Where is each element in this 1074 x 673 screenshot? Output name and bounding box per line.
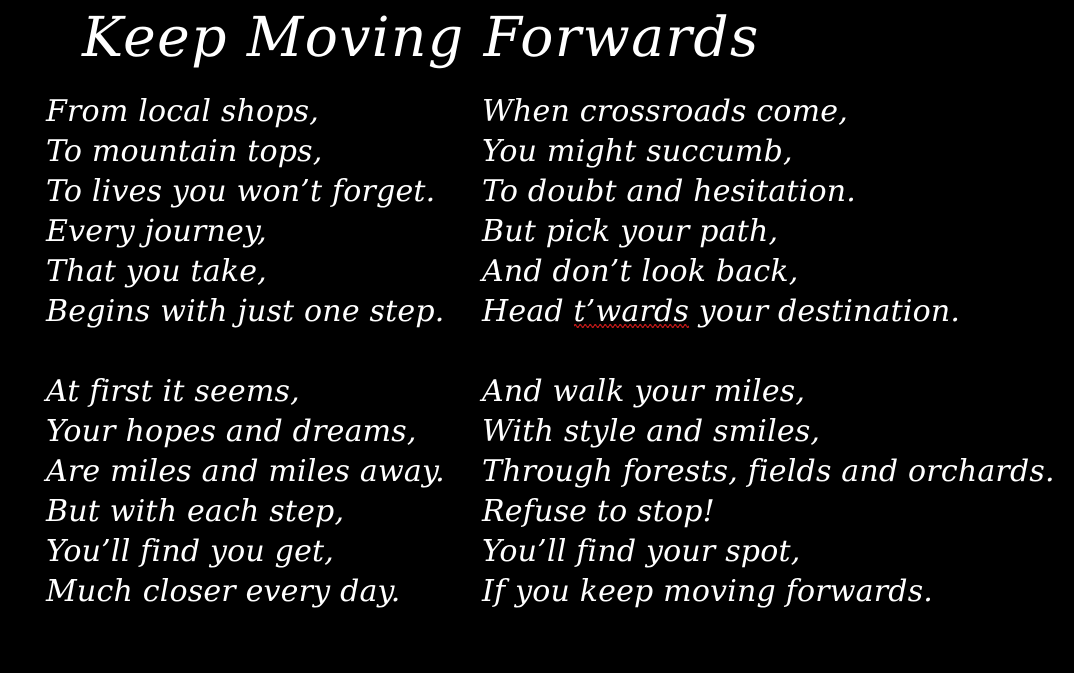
poem-column-right: When crossroads come, You might succumb,… <box>482 92 1042 612</box>
poem-line: From local shops, <box>46 92 476 132</box>
poem-line: You might succumb, <box>482 132 1042 172</box>
poem-line: Much closer every day. <box>46 572 476 612</box>
stanza: When crossroads come, You might succumb,… <box>482 92 1042 332</box>
poem-line: Begins with just one step. <box>46 292 476 332</box>
stanza: From local shops, To mountain tops, To l… <box>46 92 476 332</box>
poem-column-left: From local shops, To mountain tops, To l… <box>46 92 476 612</box>
poem-line-suffix: your destination. <box>689 294 960 329</box>
poem-line: Are miles and miles away. <box>46 452 476 492</box>
poem-line: And walk your miles, <box>482 372 1042 412</box>
misspelled-word[interactable]: t’wards <box>574 294 690 329</box>
poem-line: But pick your path, <box>482 212 1042 252</box>
poem-line: If you keep moving forwards. <box>482 572 1042 612</box>
poem-line: Every journey, <box>46 212 476 252</box>
poem-line: That you take, <box>46 252 476 292</box>
poem-body: From local shops, To mountain tops, To l… <box>0 92 1074 632</box>
poem-line: But with each step, <box>46 492 476 532</box>
poem-line: You’ll find you get, <box>46 532 476 572</box>
poem-line: When crossroads come, <box>482 92 1042 132</box>
poem-line: Through forests, fields and orchards. <box>482 452 1042 492</box>
poem-slide: Keep Moving Forwards From local shops, T… <box>0 0 1074 673</box>
poem-line: At first it seems, <box>46 372 476 412</box>
poem-line: To lives you won’t forget. <box>46 172 476 212</box>
page-title: Keep Moving Forwards <box>82 4 992 70</box>
poem-line-prefix: Head <box>482 294 574 329</box>
poem-line: To mountain tops, <box>46 132 476 172</box>
poem-line: You’ll find your spot, <box>482 532 1042 572</box>
stanza: At first it seems, Your hopes and dreams… <box>46 372 476 612</box>
stanza: And walk your miles, With style and smil… <box>482 372 1042 612</box>
poem-line: With style and smiles, <box>482 412 1042 452</box>
poem-line-with-spellcheck: Head t’wards your destination. <box>482 292 1042 332</box>
poem-line: Refuse to stop! <box>482 492 1042 532</box>
poem-line: And don’t look back, <box>482 252 1042 292</box>
poem-line: Your hopes and dreams, <box>46 412 476 452</box>
poem-line: To doubt and hesitation. <box>482 172 1042 212</box>
